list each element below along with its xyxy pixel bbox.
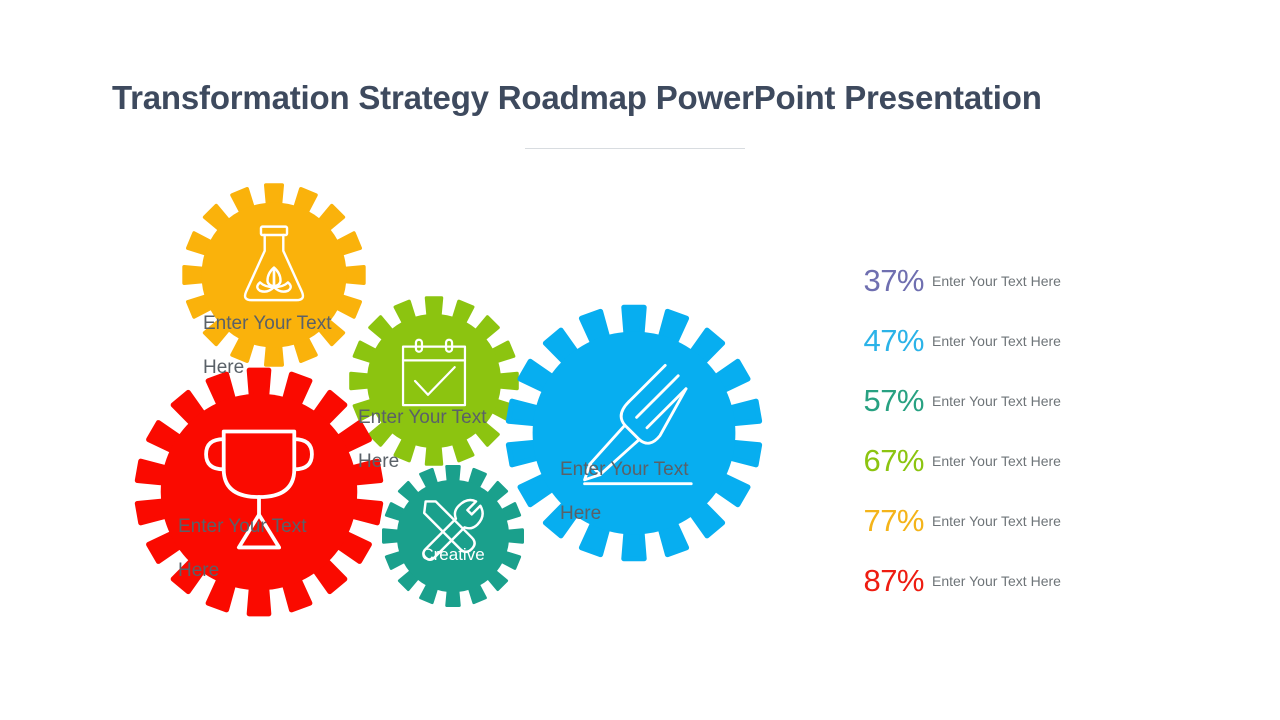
gear-orange-shape	[181, 182, 367, 368]
gear-orange[interactable]	[181, 182, 367, 368]
percent-row: 47%Enter Your Text Here	[840, 322, 1240, 382]
percent-value: 37%	[840, 262, 924, 300]
percent-caption: Enter Your Text Here	[932, 271, 1061, 291]
percent-value: 77%	[840, 502, 924, 540]
slide-canvas: Transformation Strategy Roadmap PowerPoi…	[0, 0, 1280, 720]
percent-row: 57%Enter Your Text Here	[840, 382, 1240, 442]
gear-teal-shape	[381, 464, 525, 608]
percent-caption: Enter Your Text Here	[932, 331, 1061, 351]
percent-row: 67%Enter Your Text Here	[840, 442, 1240, 502]
gear-cluster: Enter Your Text Here Enter Your Text Her…	[0, 0, 820, 720]
percent-caption: Enter Your Text Here	[932, 391, 1061, 411]
percent-caption: Enter Your Text Here	[932, 451, 1061, 471]
percent-caption: Enter Your Text Here	[932, 511, 1061, 531]
percent-value: 57%	[840, 382, 924, 420]
percent-row: 37%Enter Your Text Here	[840, 262, 1240, 322]
gear-blue-shape	[504, 303, 764, 563]
gear-blue[interactable]	[504, 303, 764, 563]
percent-caption: Enter Your Text Here	[932, 571, 1061, 591]
percent-row: 87%Enter Your Text Here	[840, 562, 1240, 622]
percent-value: 67%	[840, 442, 924, 480]
percent-value: 87%	[840, 562, 924, 600]
gear-red[interactable]	[133, 366, 385, 618]
percent-row: 77%Enter Your Text Here	[840, 502, 1240, 562]
gear-red-shape	[133, 366, 385, 618]
gear-teal[interactable]	[381, 464, 525, 608]
percent-list: 37%Enter Your Text Here47%Enter Your Tex…	[840, 262, 1240, 622]
percent-value: 47%	[840, 322, 924, 360]
